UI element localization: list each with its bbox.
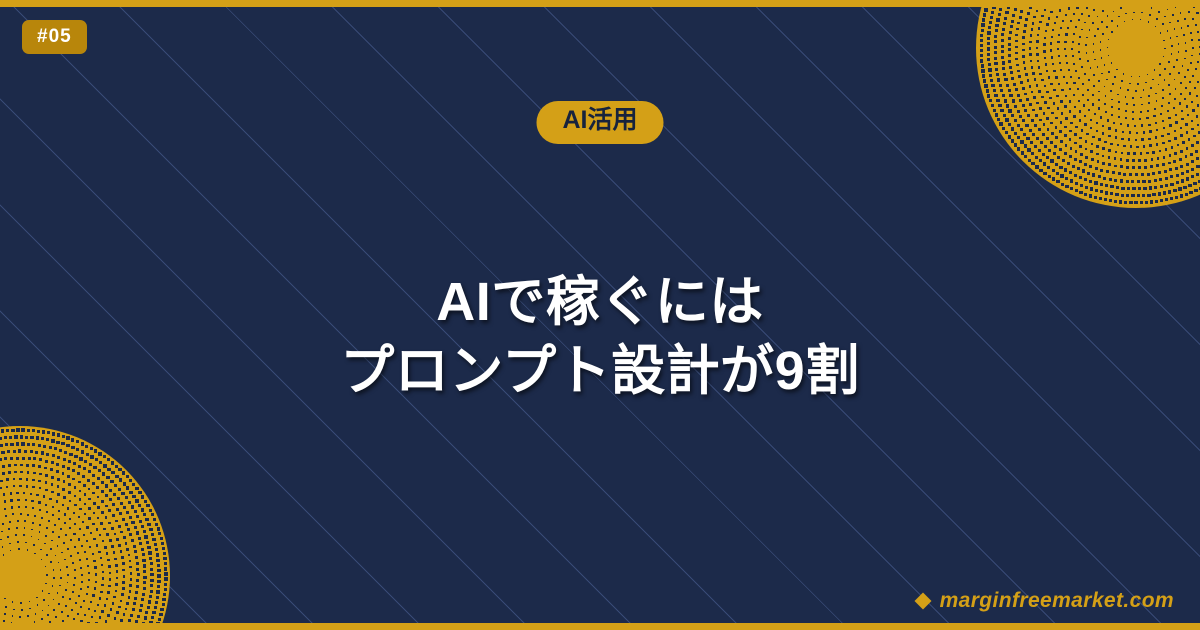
- blog-thumbnail-card: #05 AI活用 AIで稼ぐには プロンプト設計が9割 marginfreema…: [0, 0, 1200, 630]
- episode-number-badge: #05: [22, 20, 87, 54]
- gold-disc: [0, 426, 170, 630]
- site-url: marginfreemarket.com: [940, 590, 1174, 611]
- bottom-gold-rule: [0, 623, 1200, 630]
- halftone-dots: [0, 426, 170, 630]
- top-gold-rule: [0, 0, 1200, 7]
- halftone-circle-top-right: [976, 0, 1200, 208]
- diamond-icon: [914, 592, 931, 609]
- gold-disc: [976, 0, 1200, 208]
- page-title: AIで稼ぐには プロンプト設計が9割: [0, 268, 1200, 405]
- page-title-line-1: AIで稼ぐには: [0, 268, 1200, 337]
- halftone-dots: [976, 0, 1200, 208]
- footer-brand: marginfreemarket.com: [917, 590, 1174, 611]
- page-title-line-2: プロンプト設計が9割: [0, 337, 1200, 406]
- category-badge: AI活用: [536, 101, 663, 144]
- halftone-circle-bottom-left: [0, 426, 170, 630]
